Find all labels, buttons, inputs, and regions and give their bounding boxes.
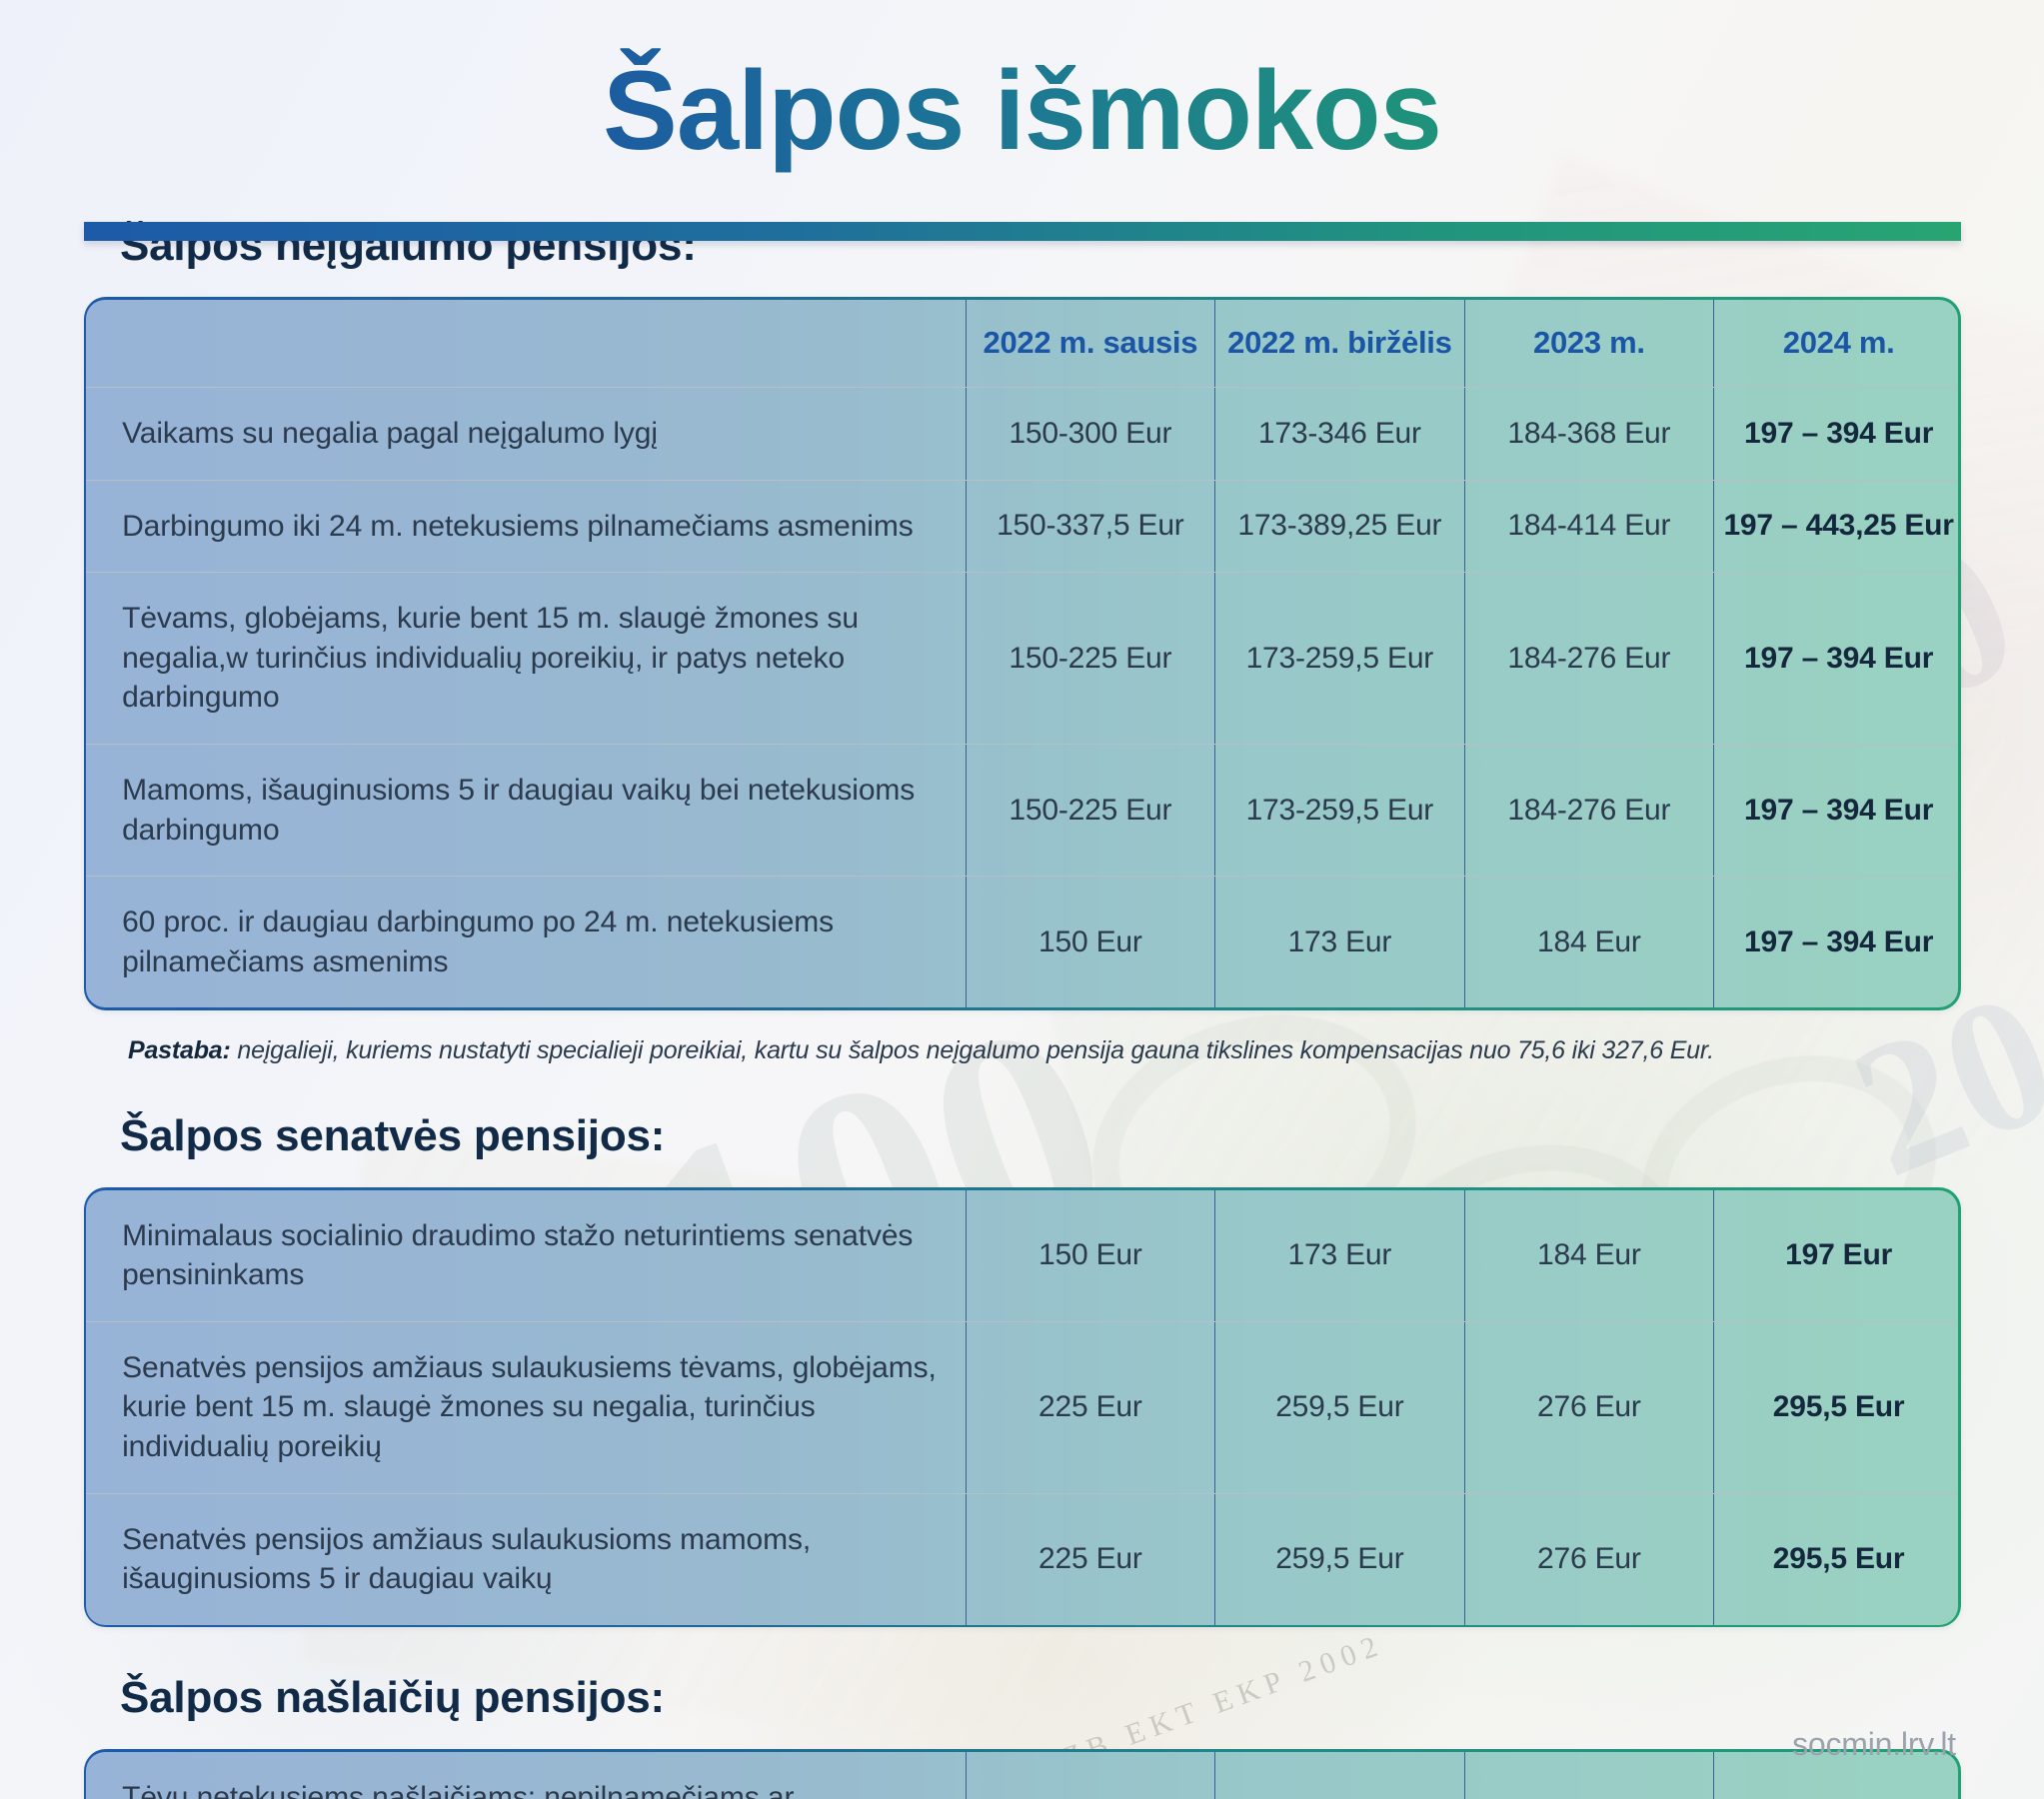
table-row: 60 proc. ir daugiau darbingumo po 24 m. … — [86, 877, 1958, 1008]
table-row: Mamoms, išauginusioms 5 ir daugiau vaikų… — [86, 745, 1958, 877]
row-label: Vaikams su negalia pagal neįgalumo lygį — [86, 388, 966, 481]
row-value-col-2: 184-276 Eur — [1464, 573, 1714, 745]
column-header-0: 2022 m. sausis — [966, 300, 1215, 388]
table-header-blank-cell — [86, 300, 966, 388]
benefits-table-0: 2022 m. sausis2022 m. biržėlis2023 m.202… — [84, 297, 1961, 1010]
row-label: Senatvės pensijos amžiaus sulaukusiems t… — [86, 1321, 966, 1493]
row-value-col-2: 276 Eur — [1464, 1493, 1714, 1625]
table-row: Tėvų netekusiems našlaičiams: nepilnameč… — [86, 1752, 1958, 1799]
section-heading-1: Šalpos senatvės pensijos: — [120, 1111, 2044, 1161]
row-value-col-0: 150-225 Eur — [966, 573, 1215, 745]
row-label: Minimalaus socialinio draudimo stažo net… — [86, 1190, 966, 1322]
row-value-col-3: 197 – 443,25 Eur — [1714, 480, 1958, 573]
row-value-col-0: 150-225 Eur — [966, 745, 1215, 877]
note-text: neįgalieji, kuriems nustatyti specialiej… — [231, 1036, 1714, 1064]
row-label: Tėvams, globėjams, kurie bent 15 m. slau… — [86, 573, 966, 745]
row-value-col-2: 184-368 Eur — [1464, 388, 1714, 481]
benefits-table-1: Minimalaus socialinio draudimo stažo net… — [84, 1187, 1961, 1627]
row-value-col-2: 184-276 Eur — [1464, 745, 1714, 877]
benefits-table-2: Tėvų netekusiems našlaičiams: nepilnameč… — [84, 1749, 1961, 1799]
table-inner-2: Tėvų netekusiems našlaičiams: nepilnameč… — [86, 1752, 1958, 1799]
table-inner-1: Minimalaus socialinio draudimo stažo net… — [86, 1190, 1958, 1625]
column-header-3: 2024 m. — [1714, 300, 1958, 388]
row-value-col-3: 197 – 394 Eur — [1714, 573, 1958, 745]
column-header-2: 2023 m. — [1464, 300, 1714, 388]
row-value-col-3: 295,5 Eur — [1714, 1493, 1958, 1625]
table-row: Senatvės pensijos amžiaus sulaukusiems t… — [86, 1321, 1958, 1493]
row-value-col-1: 173-346 Eur — [1215, 388, 1465, 481]
row-value-col-1: 173-259,5 Eur — [1215, 745, 1465, 877]
row-value-col-0: 150-300 Eur — [966, 388, 1215, 481]
row-value-col-1: 173 Eur — [1215, 877, 1465, 1008]
row-value-col-3: 197 – 394 Eur — [1714, 388, 1958, 481]
row-value-col-0: 225 Eur — [966, 1493, 1215, 1625]
row-value-col-2: 276 Eur — [1464, 1321, 1714, 1493]
row-label: Senatvės pensijos amžiaus sulaukusioms m… — [86, 1493, 966, 1625]
site-footer-url: socmin.lrv.lt — [1792, 1726, 1956, 1763]
row-value-col-2: 184 Eur — [1464, 877, 1714, 1008]
row-value-col-2: 92,5 Eur — [1464, 1752, 1714, 1799]
row-value-col-3: 197 Eur — [1714, 1190, 1958, 1322]
row-value-col-1: 86,5 Eur — [1215, 1752, 1465, 1799]
row-label: Darbingumo iki 24 m. netekusiems pilname… — [86, 480, 966, 573]
table-row: Vaikams su negalia pagal neįgalumo lygį1… — [86, 388, 1958, 481]
row-value-col-0: 150 Eur — [966, 877, 1215, 1008]
sections-container: Šalpos neįgalumo pensijos:2022 m. sausis… — [0, 221, 2044, 1799]
row-label: Mamoms, išauginusioms 5 ir daugiau vaikų… — [86, 745, 966, 877]
section-heading-2: Šalpos našlaičių pensijos: — [120, 1673, 2044, 1723]
table-row: Darbingumo iki 24 m. netekusiems pilname… — [86, 480, 1958, 573]
row-label: Tėvų netekusiems našlaičiams: nepilnameč… — [86, 1752, 966, 1799]
row-value-col-1: 173-389,25 Eur — [1215, 480, 1465, 573]
row-value-col-3: 197 – 394 Eur — [1714, 877, 1958, 1008]
row-value-col-2: 184 Eur — [1464, 1190, 1714, 1322]
row-value-col-1: 259,5 Eur — [1215, 1321, 1465, 1493]
table-header-row: 2022 m. sausis2022 m. biržėlis2023 m.202… — [86, 300, 1958, 388]
infographic-page: Šalpos išmokos Šalpos neįgalumo pensijos… — [0, 0, 2044, 1799]
column-header-1: 2022 m. biržėlis — [1215, 300, 1465, 388]
table-row: Minimalaus socialinio draudimo stažo net… — [86, 1190, 1958, 1322]
row-value-col-1: 173 Eur — [1215, 1190, 1465, 1322]
row-value-col-0: 75 Eur — [966, 1752, 1215, 1799]
table-inner-0: 2022 m. sausis2022 m. biržėlis2023 m.202… — [86, 300, 1958, 1008]
page-title: Šalpos išmokos — [0, 0, 2044, 175]
row-value-col-3: 295,5 Eur — [1714, 1321, 1958, 1493]
row-value-col-1: 259,5 Eur — [1215, 1493, 1465, 1625]
row-label: 60 proc. ir daugiau darbingumo po 24 m. … — [86, 877, 966, 1008]
row-value-col-2: 184-414 Eur — [1464, 480, 1714, 573]
table-note: Pastaba: neįgalieji, kuriems nustatyti s… — [128, 1036, 2044, 1065]
table-row: Tėvams, globėjams, kurie bent 15 m. slau… — [86, 573, 1958, 745]
row-value-col-0: 150 Eur — [966, 1190, 1215, 1322]
row-value-col-0: 150-337,5 Eur — [966, 480, 1215, 573]
row-value-col-3: 197 – 394 Eur — [1714, 745, 1958, 877]
table-row: Senatvės pensijos amžiaus sulaukusioms m… — [86, 1493, 1958, 1625]
row-value-col-0: 225 Eur — [966, 1321, 1215, 1493]
note-label: Pastaba: — [128, 1036, 231, 1064]
row-value-col-1: 173-259,5 Eur — [1215, 573, 1465, 745]
title-divider-bar — [84, 222, 1961, 241]
